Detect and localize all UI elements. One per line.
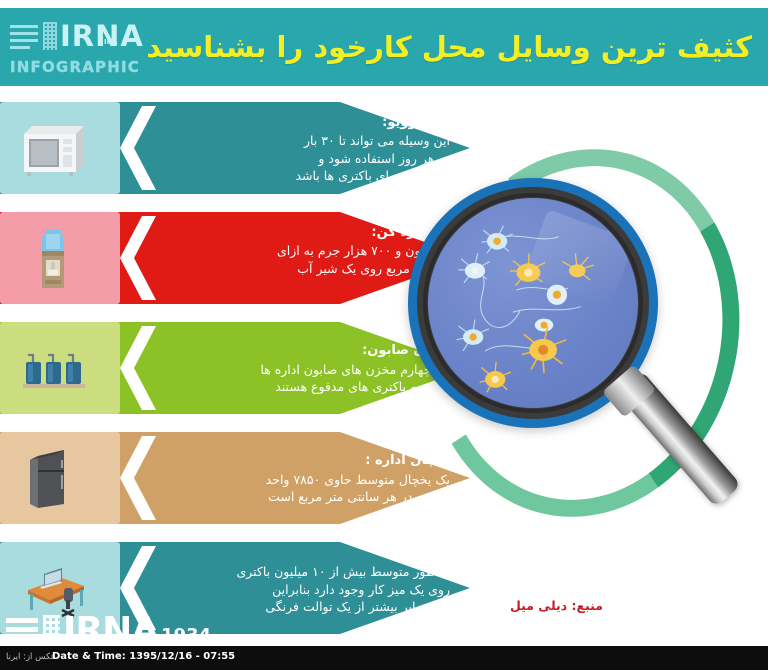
page-title: کثیف ترین وسایل محل کارخود را بشناسید	[152, 16, 752, 78]
irna-logo-lockup: IRNA	[10, 14, 136, 58]
fact-heading: مایکروویو:	[200, 114, 450, 132]
refrigerator-icon	[18, 446, 90, 512]
fact-row-microwave: مایکروویو: این وسیله می تواند تا ۳۰ بار …	[0, 96, 470, 200]
icon-panel-microwave	[0, 102, 120, 194]
neuron-cell	[457, 320, 489, 351]
round-cell	[535, 319, 553, 332]
fact-line: این وسیله می تواند تا ۳۰ بار	[200, 132, 450, 150]
irna-watermark-text: IRNA	[63, 613, 158, 649]
irna-logo-subtitle: INFOGRAPHIC	[10, 58, 134, 76]
infographic-canvas: IRNA IRA INFOGRAPHIC کثیف ترین وسایل محل…	[0, 0, 768, 670]
magnifier-lens	[428, 198, 638, 408]
irna-logo: IRNA IRA INFOGRAPHIC	[8, 12, 136, 86]
neuron-cell	[481, 226, 512, 254]
footer-datetime: Date & Time: 1395/12/16 - 07:55	[52, 651, 235, 662]
fact-row-water-cooler: آب سرد کن: ۲ میلیون و ۷۰۰ هزار جرم به از…	[0, 206, 470, 310]
neuron-cell	[480, 362, 511, 392]
fact-row-soap-dispenser: مخزن صابون: یک چهارم مخزن های صابون ادار…	[0, 316, 470, 420]
irna-ira-tag: IRA	[104, 38, 117, 46]
irna-watermark-mark-icon	[6, 614, 40, 648]
microwave-icon	[18, 116, 90, 182]
magnifying-glass	[408, 178, 658, 428]
fact-row-office-fridge: یخچال اداره : یک یخچال متوسط حاوی ۷۸۵۰ و…	[0, 426, 470, 530]
footer-credit: عکس از: ایرنا	[6, 652, 56, 662]
irna-logo-text: IRNA	[60, 21, 144, 51]
fact-line: روی یک میز کار وجود دارد بنابراین	[200, 581, 450, 599]
fact-line: در هر روز استفاده شود و	[200, 150, 450, 168]
source-label: منبع: دیلی میل	[510, 598, 603, 613]
fact-line: به طور متوسط بیش از ۱۰ میلیون باکتری	[200, 563, 450, 581]
irna-watermark-grid-icon	[43, 615, 60, 648]
fact-text-work-desk: میزکار: به طور متوسط بیش از ۱۰ میلیون با…	[200, 542, 450, 636]
chevron-left-icon	[112, 212, 156, 304]
icon-panel-water-cooler	[0, 212, 120, 304]
header-banner: IRNA IRA INFOGRAPHIC کثیف ترین وسایل محل…	[0, 8, 768, 86]
fact-text-office-fridge: یخچال اداره : یک یخچال متوسط حاوی ۷۸۵۰ و…	[200, 432, 450, 526]
fact-line: باکتری در هر سانتی متر مربع است	[200, 488, 450, 506]
chevron-left-icon	[112, 432, 156, 524]
irna-mark-icon	[10, 21, 40, 51]
water-cooler-icon	[18, 226, 90, 292]
icon-panel-office-fridge	[0, 432, 120, 524]
fact-line: آلودگی دارد.	[200, 616, 450, 634]
neuron-cell	[458, 253, 489, 282]
fact-line: ۴۰۰ برابر بیشتر از یک توالت فرنگی	[200, 598, 450, 616]
neuron-cell	[522, 327, 566, 373]
fact-heading: یخچال اداره :	[200, 452, 450, 470]
footer-bar: عکس از: ایرنا Date & Time: 1395/12/16 - …	[0, 646, 768, 670]
soap-dispenser-icon	[18, 336, 90, 402]
chevron-left-icon	[112, 322, 156, 414]
fact-heading: میزکار:	[200, 545, 450, 563]
chevron-left-icon	[112, 102, 156, 194]
icon-panel-soap-dispenser	[0, 322, 120, 414]
fact-line: یک یخچال متوسط حاوی ۷۸۵۰ واحد	[200, 471, 450, 489]
irna-grid-icon	[43, 22, 57, 50]
